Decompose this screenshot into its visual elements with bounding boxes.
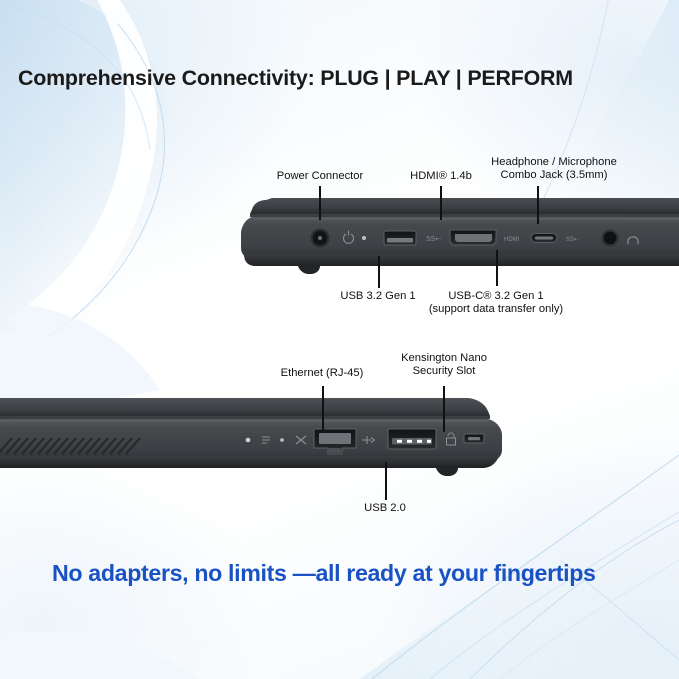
leader-audio-combo bbox=[537, 186, 539, 224]
port-kensington bbox=[464, 434, 484, 443]
port-hdmi bbox=[450, 230, 496, 245]
label-kensington: Kensington Nano Security Slot bbox=[379, 352, 509, 379]
leader-hdmi bbox=[440, 186, 442, 220]
leader-power-connector bbox=[319, 186, 321, 220]
port-usb-c bbox=[531, 234, 557, 243]
tagline: No adapters, no limits —all ready at you… bbox=[52, 560, 652, 587]
label-power-connector: Power Connector bbox=[249, 170, 391, 183]
label-usb-c: USB-C® 3.2 Gen 1 (support data transfer … bbox=[408, 290, 584, 317]
port-usb-a-1 bbox=[384, 231, 416, 245]
label-ethernet: Ethernet (RJ-45) bbox=[256, 367, 388, 380]
infographic-canvas: Comprehensive Connectivity: PLUG | PLAY … bbox=[0, 0, 679, 679]
leader-usb-a-1 bbox=[378, 256, 380, 288]
label-usb-2: USB 2.0 bbox=[340, 502, 430, 515]
page-title: Comprehensive Connectivity: PLUG | PLAY … bbox=[18, 66, 668, 91]
laptop-right-side-profile bbox=[0, 396, 516, 476]
port-usb-2 bbox=[388, 429, 436, 449]
port-audio-combo bbox=[601, 229, 618, 246]
svg-text:SS⇠: SS⇠ bbox=[426, 236, 441, 243]
port-power-connector bbox=[311, 229, 330, 248]
leader-ethernet bbox=[322, 386, 324, 430]
leader-kensington bbox=[443, 386, 445, 432]
leader-usb-c bbox=[496, 250, 498, 286]
leader-usb-2 bbox=[385, 462, 387, 500]
laptop-left-side-profile: SS⇠ HDMI SS⇠ bbox=[236, 196, 679, 274]
label-audio-combo: Headphone / Microphone Combo Jack (3.5mm… bbox=[466, 156, 642, 183]
svg-text:HDMI: HDMI bbox=[504, 237, 520, 243]
svg-text:SS⇠: SS⇠ bbox=[566, 237, 579, 243]
